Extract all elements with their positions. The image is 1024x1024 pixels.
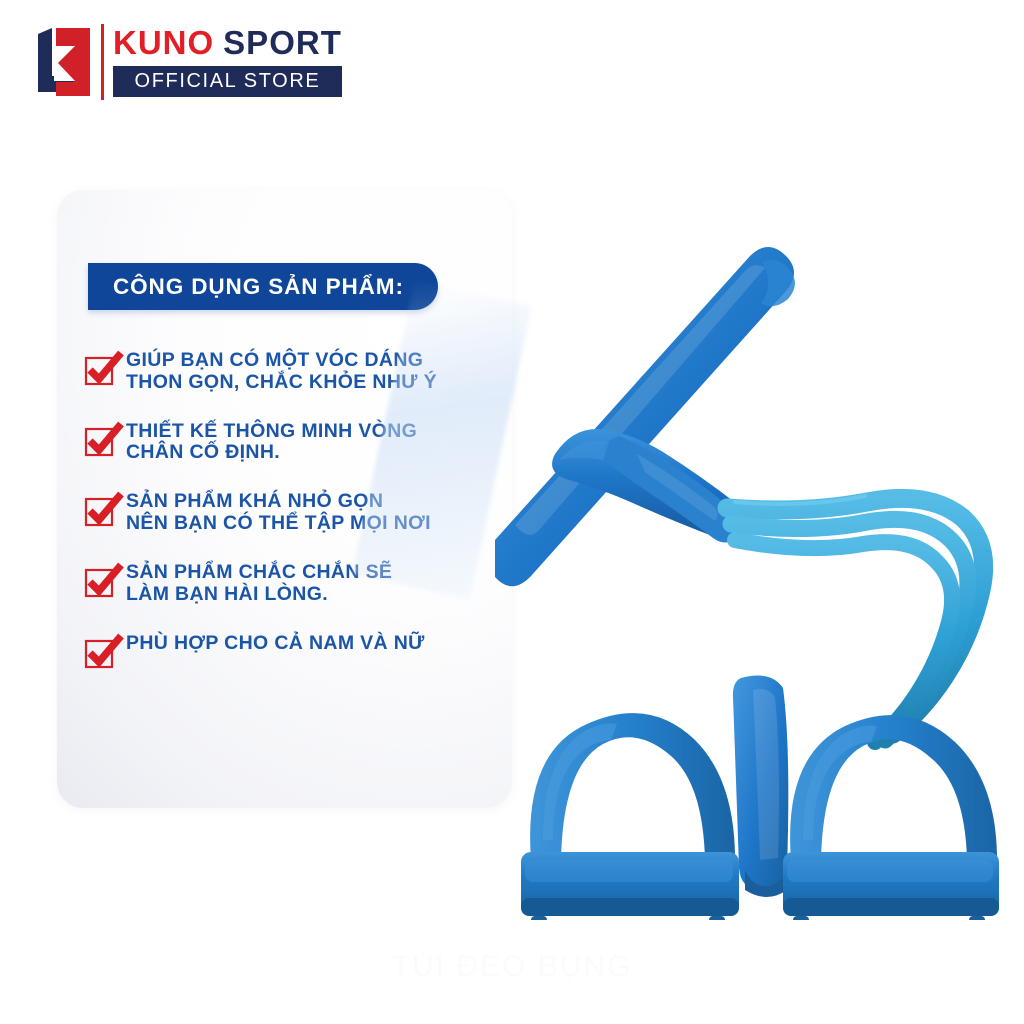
benefits-headline-banner: CÔNG DỤNG SẢN PHẨM: (88, 263, 438, 310)
logo-text-block: KUNOSPORT OFFICIAL STORE (113, 24, 342, 97)
check-box-icon (84, 421, 125, 457)
benefit-text: THIẾT KẾ THÔNG MINH VÒNG CHÂN CỐ ĐỊNH. (126, 419, 417, 465)
check-box-icon (84, 633, 125, 669)
check-box-icon (84, 350, 125, 386)
benefit-item: GIÚP BẠN CÓ MỘT VÓC DÁNG THON GỌN, CHẮC … (84, 348, 504, 394)
benefit-text: SẢN PHẨM CHẮC CHẮN SẼ LÀM BẠN HÀI LÒNG. (126, 560, 392, 606)
benefit-item: PHÙ HỢP CHO CẢ NAM VÀ NỮ (84, 631, 504, 669)
left-foot-pedal (521, 713, 739, 920)
logo-divider (101, 24, 104, 100)
brand-name-sport: SPORT (223, 24, 342, 61)
center-foam-sleeve (733, 676, 788, 897)
watermark-text: TÚI ĐEO BỤNG (0, 950, 1024, 984)
benefit-text: GIÚP BẠN CÓ MỘT VÓC DÁNG THON GỌN, CHẮC … (126, 348, 437, 394)
kuno-k-monogram-icon (34, 24, 94, 100)
benefit-item: THIẾT KẾ THÔNG MINH VÒNG CHÂN CỐ ĐỊNH. (84, 419, 504, 465)
benefits-headline-text: CÔNG DỤNG SẢN PHẨM: (113, 274, 404, 300)
official-store-badge: OFFICIAL STORE (113, 66, 342, 97)
check-box-icon (84, 491, 125, 527)
benefit-text: PHÙ HỢP CHO CẢ NAM VÀ NỮ (126, 631, 425, 655)
brand-logo: KUNOSPORT OFFICIAL STORE (34, 24, 364, 108)
product-photo (495, 240, 1015, 920)
benefit-item: SẢN PHẨM KHÁ NHỎ GỌN NÊN BẠN CÓ THỂ TẬP … (84, 489, 504, 535)
brand-wordmark: KUNOSPORT (113, 26, 342, 61)
benefit-item: SẢN PHẨM CHẮC CHẮN SẼ LÀM BẠN HÀI LÒNG. (84, 560, 504, 606)
benefit-list: GIÚP BẠN CÓ MỘT VÓC DÁNG THON GỌN, CHẮC … (84, 348, 504, 669)
check-box-icon (84, 562, 125, 598)
brand-name-kuno: KUNO (113, 24, 214, 61)
product-benefits-card: CÔNG DỤNG SẢN PHẨM: GIÚP BẠN CÓ MỘT VÓC … (57, 190, 512, 808)
benefit-text: SẢN PHẨM KHÁ NHỎ GỌN NÊN BẠN CÓ THỂ TẬP … (126, 489, 431, 535)
